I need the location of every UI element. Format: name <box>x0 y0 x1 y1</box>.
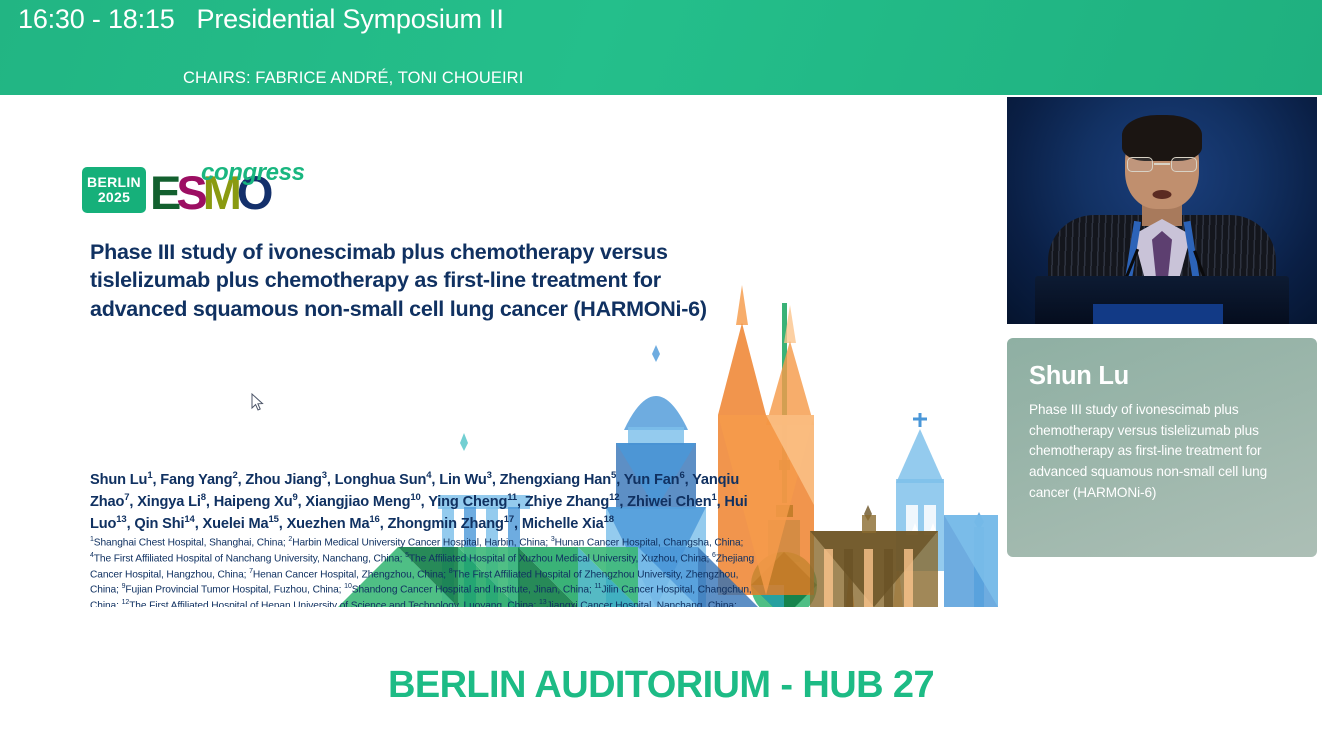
mouse-cursor <box>251 393 265 412</box>
author-list: Shun Lu1, Fang Yang2, Zhou Jiang3, Longh… <box>90 469 755 535</box>
presentation-slide[interactable]: .g1{fill:#3cb878;opacity:.9}.g2{fill:#17… <box>8 95 998 607</box>
badge-year: 2025 <box>98 190 130 205</box>
session-header: 16:30 - 18:15 Presidential Symposium II … <box>0 0 1322 95</box>
speaker-info-card: Shun Lu Phase III study of ivonescimab p… <box>1007 338 1317 557</box>
slide-title: Phase III study of ivonescimab plus chem… <box>90 238 760 323</box>
congress-wordmark: congress <box>201 159 305 187</box>
speaker-mouth <box>1153 190 1172 199</box>
session-time: 16:30 - 18:15 <box>18 4 175 35</box>
esmo-letter-e: E <box>150 172 179 213</box>
badge-city: BERLIN <box>87 175 141 190</box>
berlin-2025-badge: BERLIN 2025 <box>82 167 146 213</box>
speaker-hair <box>1122 115 1202 161</box>
session-chairs: CHAIRS: FABRICE ANDRÉ, TONI CHOUEIRI <box>183 69 523 88</box>
podium-strip <box>1093 304 1223 324</box>
session-title: Presidential Symposium II <box>197 4 504 35</box>
auditorium-location: BERLIN AUDITORIUM - HUB 27 <box>0 664 1322 707</box>
speaker-name: Shun Lu <box>1029 362 1295 391</box>
glasses-icon <box>1126 157 1198 172</box>
podium <box>1035 276 1289 324</box>
affiliation-list: 1Shanghai Chest Hospital, Shanghai, Chin… <box>90 535 758 607</box>
header-title-row: 16:30 - 18:15 Presidential Symposium II <box>18 4 504 35</box>
speaker-video-tile[interactable] <box>1007 97 1317 324</box>
speaker-talk-title: Phase III study of ivonescimab plus chem… <box>1029 400 1295 503</box>
